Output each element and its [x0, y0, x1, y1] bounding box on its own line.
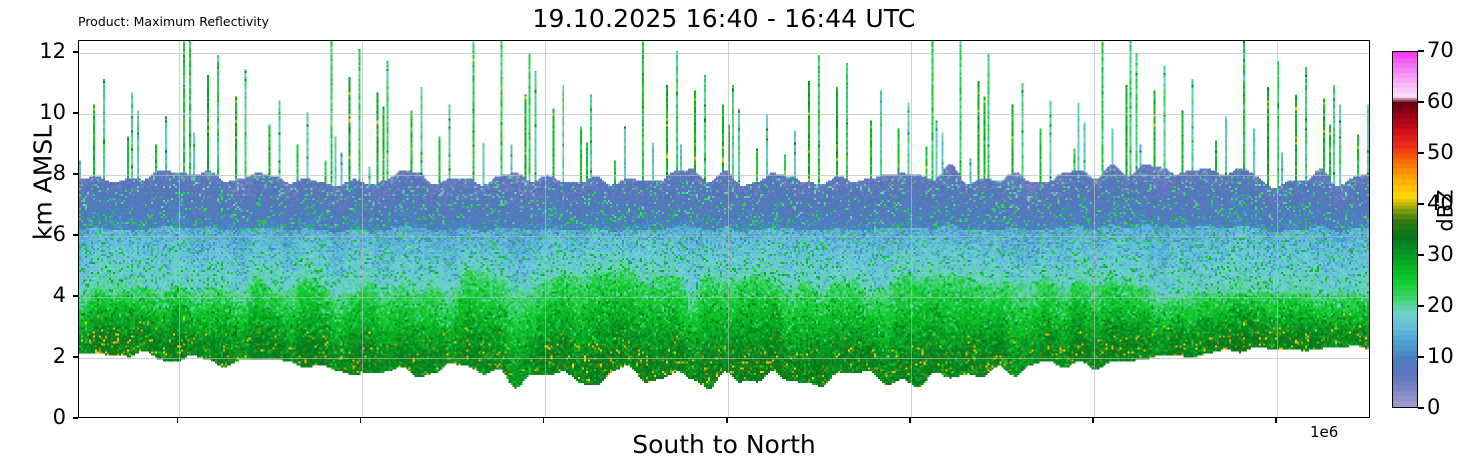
y-tick [73, 234, 78, 235]
x-tick [726, 418, 727, 423]
y-tick-label: 4 [14, 285, 66, 306]
x-tick [360, 418, 361, 423]
colorbar-tick [1418, 101, 1424, 102]
reflectivity-heatmap [79, 41, 1369, 417]
chart-title: 19.10.2025 16:40 - 16:44 UTC [78, 4, 1370, 34]
y-tick-label: 8 [14, 163, 66, 184]
colorbar-tick [1418, 203, 1424, 204]
x-axis-offset-label: 1e6 [1310, 424, 1338, 441]
y-tick [73, 417, 78, 418]
colorbar-tick [1418, 50, 1424, 51]
y-tick [73, 112, 78, 113]
y-tick [73, 295, 78, 296]
colorbar-tick [1418, 407, 1424, 408]
x-axis-label: South to North [78, 431, 1370, 459]
colorbar-tick-label: 20 [1427, 295, 1454, 316]
x-tick [177, 418, 178, 423]
colorbar-tick [1418, 152, 1424, 153]
plot-area[interactable] [78, 40, 1370, 418]
y-tick-label: 10 [14, 102, 66, 123]
y-tick-label: 12 [14, 41, 66, 62]
y-tick-label: 0 [14, 407, 66, 428]
y-tick-label: 6 [14, 224, 66, 245]
y-tick [73, 173, 78, 174]
colorbar[interactable] [1392, 51, 1418, 408]
colorbar-tick-label: 0 [1427, 397, 1440, 418]
y-tick [73, 356, 78, 357]
figure: Product: Maximum Reflectivity 19.10.2025… [0, 0, 1482, 470]
x-tick [1092, 418, 1093, 423]
colorbar-tick-label: 70 [1427, 40, 1454, 61]
colorbar-tick-label: 10 [1427, 346, 1454, 367]
colorbar-gradient [1392, 51, 1418, 408]
colorbar-tick-label: 60 [1427, 91, 1454, 112]
x-tick [909, 418, 910, 423]
y-tick [73, 51, 78, 52]
y-tick-label: 2 [14, 346, 66, 367]
colorbar-tick [1418, 305, 1424, 306]
colorbar-tick [1418, 254, 1424, 255]
colorbar-title: dBZ [1436, 151, 1457, 271]
colorbar-tick [1418, 356, 1424, 357]
x-tick [543, 418, 544, 423]
x-tick [1275, 418, 1276, 423]
